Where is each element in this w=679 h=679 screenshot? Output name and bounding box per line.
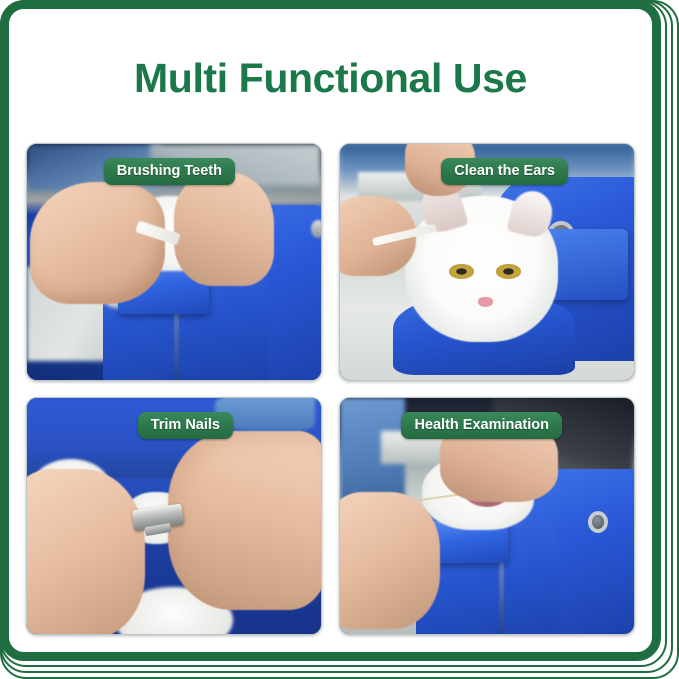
- photo3-hand-right: [168, 431, 321, 610]
- photo1-hand-right: [174, 172, 274, 285]
- feature-card-health-examination[interactable]: Health Examination: [339, 397, 635, 635]
- badge-brushing-teeth: Brushing Teeth: [104, 158, 235, 185]
- photo4-hand-left: [340, 492, 440, 629]
- badge-clean-the-ears: Clean the Ears: [441, 158, 568, 185]
- photo3-hand-left: [27, 469, 145, 634]
- page-title: Multi Functional Use: [9, 55, 652, 102]
- photo1-hand-left: [30, 182, 165, 305]
- badge-trim-nails: Trim Nails: [138, 412, 233, 439]
- feature-card-trim-nails[interactable]: Trim Nails: [26, 397, 322, 635]
- photo2-cat-eye-right: [496, 264, 521, 278]
- photo2-cat-nose: [478, 297, 493, 306]
- feature-card-clean-the-ears[interactable]: Clean the Ears: [339, 143, 635, 381]
- badge-health-examination: Health Examination: [401, 412, 562, 439]
- photo2-cat-eye-left: [449, 264, 474, 278]
- feature-card-brushing-teeth[interactable]: Brushing Teeth: [26, 143, 322, 381]
- feature-grid: Brushing Teeth: [26, 143, 635, 635]
- photo4-bag-grommet: [588, 511, 608, 533]
- infographic-page: Multi Functional Use: [0, 0, 679, 679]
- content-area: Multi Functional Use: [9, 9, 652, 652]
